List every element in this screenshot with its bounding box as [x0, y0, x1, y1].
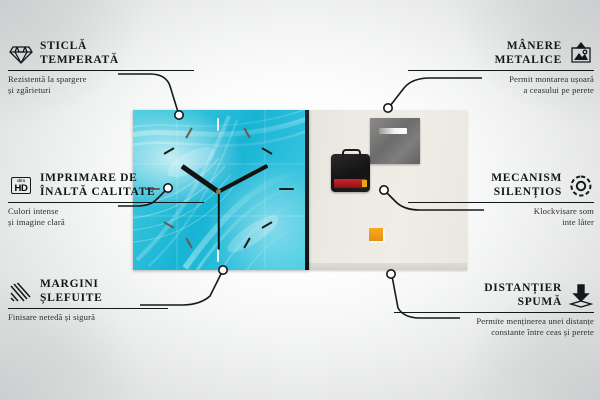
callout-sub-line2: inte låter — [562, 217, 594, 227]
callout-hd-print: ultra HD IMPRIMARE DE ÎNALTĂ CALITATE Cu… — [8, 172, 204, 227]
metal-hanger-plate — [370, 118, 420, 164]
gear-icon — [568, 174, 594, 198]
callout-title-line1: MECANISM — [491, 172, 562, 184]
callout-title-line2: METALICE — [495, 54, 562, 66]
callout-polished-edges: MARGINI ȘLEFUITE Finisare netedă și sigu… — [8, 278, 168, 323]
infographic-canvas: STICLĂ TEMPERATĂ Rezistentă la spargere … — [0, 0, 600, 400]
callout-title-line2: ȘLEFUITE — [40, 292, 102, 304]
callout-rule — [8, 70, 194, 71]
callout-title-line1: DISTANȚIER — [484, 282, 562, 294]
callout-foam-spacer: DISTANȚIER SPUMĂ Permite menținerea unei… — [394, 282, 594, 337]
callout-sub-line2: constante între ceas și perete — [491, 327, 594, 337]
callout-title-line2: TEMPERATĂ — [40, 54, 119, 66]
callout-title-line1: IMPRIMARE DE — [40, 172, 138, 184]
clock-second-hand — [218, 192, 220, 250]
clock-tick-3 — [279, 188, 294, 190]
callout-rule — [408, 202, 594, 203]
callout-sub-line1: Finisare netedă și sigură — [8, 312, 95, 322]
callout-tempered-glass: STICLĂ TEMPERATĂ Rezistentă la spargere … — [8, 40, 194, 95]
callout-rule — [408, 70, 594, 71]
battery-terminal — [362, 180, 367, 187]
hanger-slot — [379, 128, 407, 134]
callout-title-line2: ÎNALTĂ CALITATE — [40, 186, 155, 198]
callout-title-line1: MÂNERE — [507, 40, 562, 52]
clock-tick-12 — [217, 118, 219, 131]
connector-endpoint-foam-spacer — [387, 270, 395, 278]
callout-sub-line1: Rezistentă la spargere — [8, 74, 87, 84]
callout-rule — [8, 202, 204, 203]
callout-sub-line1: Permit montarea ușoară — [509, 74, 594, 84]
callout-sub-line1: Culori intense — [8, 206, 59, 216]
callout-sub-line1: Klockvisare som — [534, 206, 594, 216]
quartz-movement — [331, 154, 370, 192]
callout-sub-line1: Permite menținerea unei distanțe — [476, 316, 594, 326]
clock-right-edge — [305, 110, 309, 270]
callout-sub-line2: și imagine clară — [8, 217, 65, 227]
callout-title-line2: SILENȚIOS — [494, 186, 562, 198]
foam-spacer — [369, 228, 383, 241]
callout-title-line1: STICLĂ — [40, 40, 87, 52]
arrow-down-pad-icon — [568, 284, 594, 308]
ultra-hd-icon-large-text: HD — [14, 184, 27, 194]
callout-sub-line2: și zgârieturi — [8, 85, 51, 95]
callout-rule — [394, 312, 594, 313]
callout-sub-line2: a ceasului pe perete — [523, 85, 594, 95]
movement-hook — [342, 149, 361, 159]
hatch-lines-icon — [8, 280, 34, 304]
ultra-hd-icon: ultra HD — [8, 174, 34, 198]
clock-center-cap — [216, 189, 221, 194]
callout-silent-mechanism: MECANISM SILENȚIOS Klockvisare som inte … — [408, 172, 594, 227]
callout-title-line2: SPUMĂ — [518, 296, 562, 308]
callout-metal-hangers: MÂNERE METALICE Permit montarea ușoară — [408, 40, 594, 95]
callout-rule — [8, 308, 168, 309]
diamond-icon — [8, 42, 34, 66]
picture-frame-hanger-icon — [568, 42, 594, 66]
callout-title-line1: MARGINI — [40, 278, 99, 290]
clock-tick-6 — [217, 249, 219, 262]
